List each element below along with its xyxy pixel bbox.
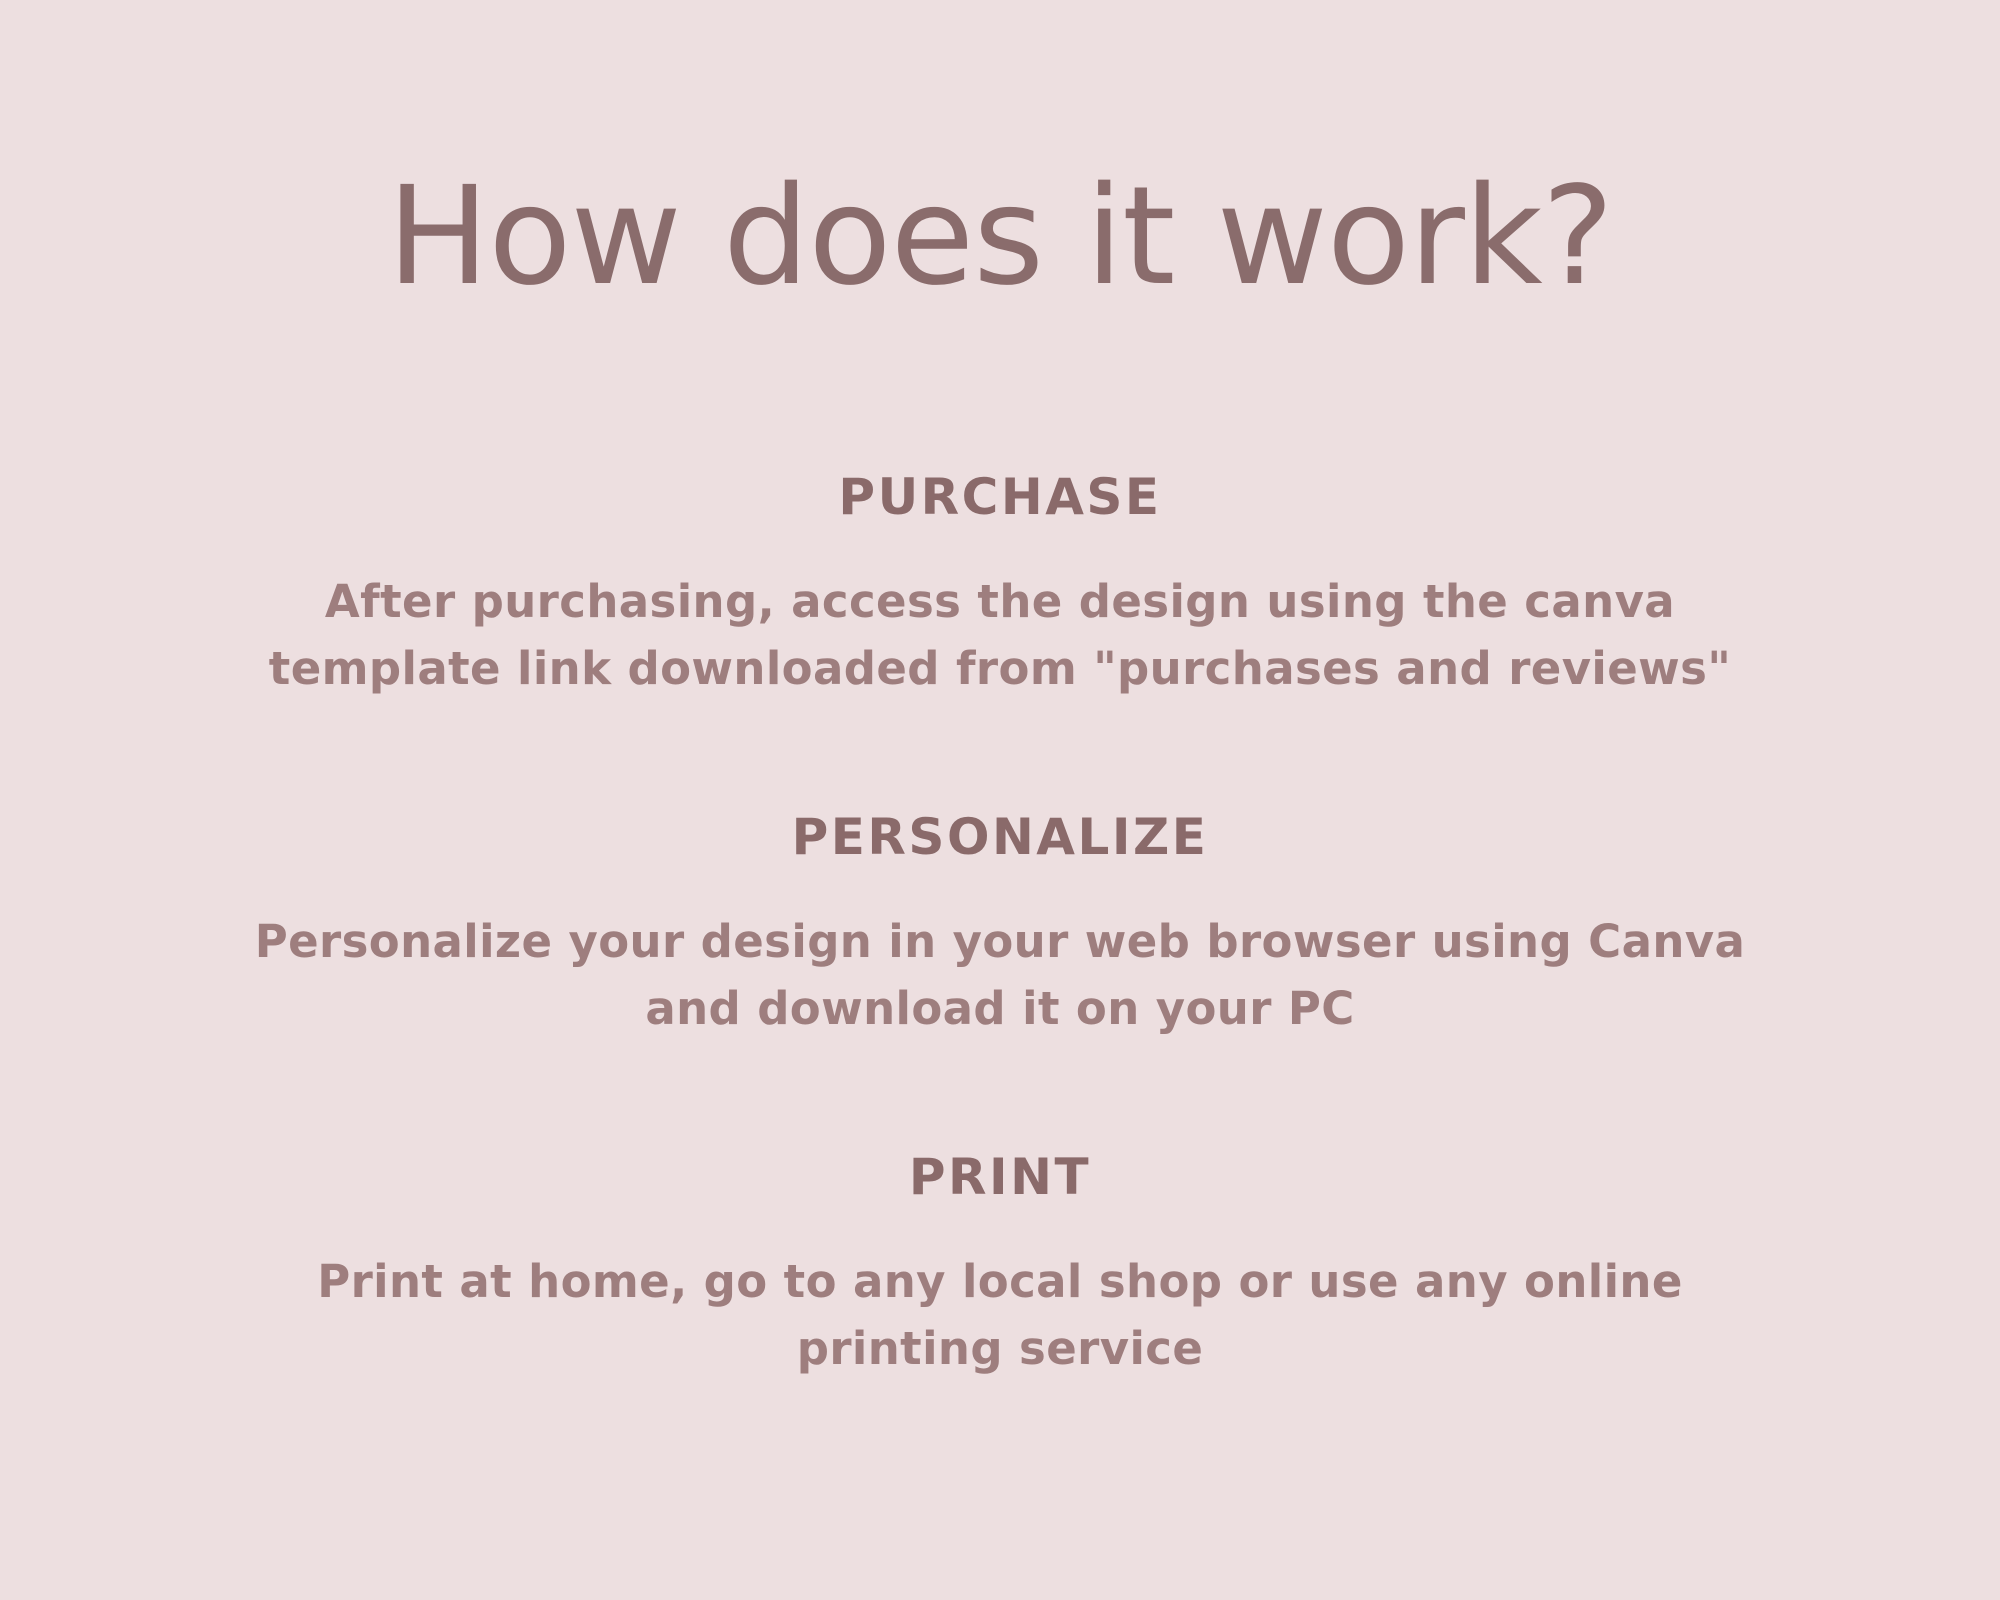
step-purchase: PURCHASE After purchasing, access the de… [0,470,2000,702]
step-print-body: Print at home, go to any local shop or u… [190,1249,1810,1382]
step-print-heading: PRINT [0,1150,2000,1205]
steps-list: PURCHASE After purchasing, access the de… [0,470,2000,1383]
step-print-body-line-2: printing service [190,1316,1810,1383]
step-personalize-body-line-1: Personalize your design in your web brow… [190,909,1810,976]
step-print-body-line-1: Print at home, go to any local shop or u… [190,1249,1810,1316]
page-title: How does it work? [0,166,2000,309]
step-purchase-body-line-2: template link downloaded from "purchases… [190,636,1810,703]
step-purchase-heading: PURCHASE [0,470,2000,525]
step-personalize-heading: PERSONALIZE [0,810,2000,865]
step-print: PRINT Print at home, go to any local sho… [0,1150,2000,1382]
poster-canvas: How does it work? PURCHASE After purchas… [0,0,2000,1600]
step-personalize-body: Personalize your design in your web brow… [190,909,1810,1042]
step-personalize-body-line-2: and download it on your PC [190,976,1810,1043]
step-purchase-body-line-1: After purchasing, access the design usin… [190,569,1810,636]
step-personalize: PERSONALIZE Personalize your design in y… [0,810,2000,1042]
step-purchase-body: After purchasing, access the design usin… [190,569,1810,702]
